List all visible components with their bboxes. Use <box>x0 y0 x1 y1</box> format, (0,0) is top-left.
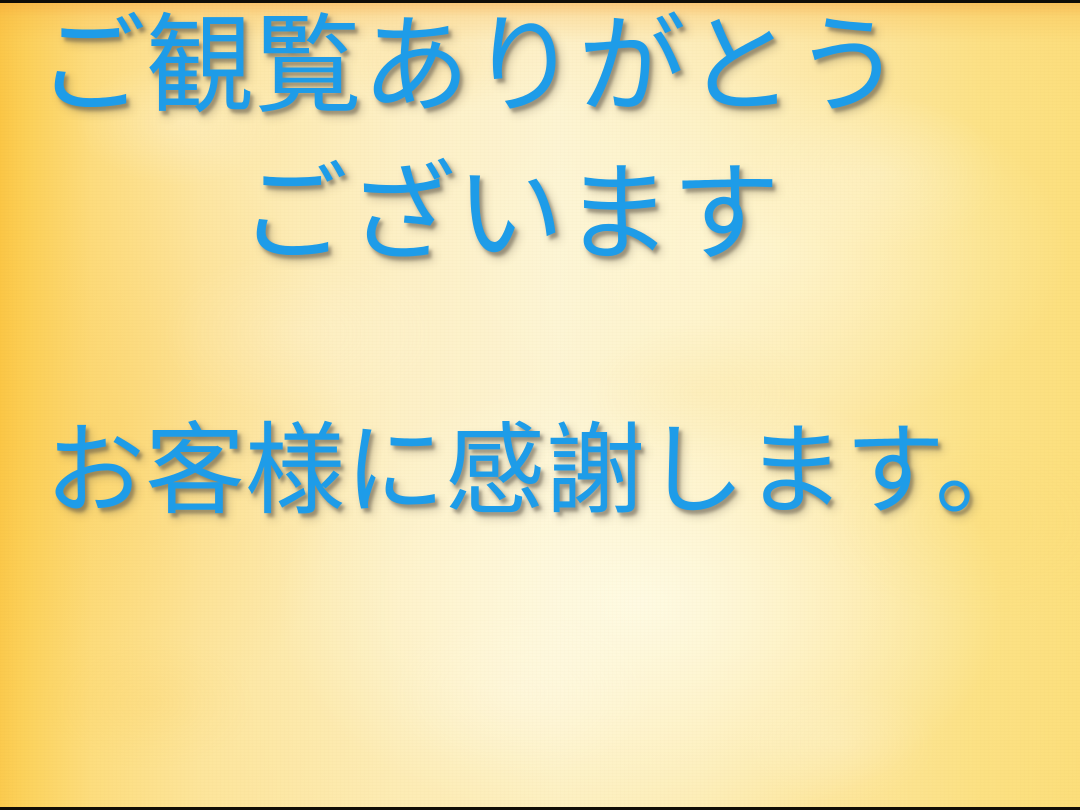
slide-canvas: ご観覧ありがとう ございます お客様に感謝します。 <box>0 0 1080 810</box>
thank-you-line-1: ご観覧ありがとう <box>0 13 1010 121</box>
gratitude-line: お客様に感謝します。 <box>0 421 1080 521</box>
slide-text-block: ご観覧ありがとう ございます お客様に感謝します。 <box>0 3 1080 807</box>
thank-you-line-2: ございます <box>0 161 1050 269</box>
slide-background: ご観覧ありがとう ございます お客様に感謝します。 <box>0 3 1080 807</box>
